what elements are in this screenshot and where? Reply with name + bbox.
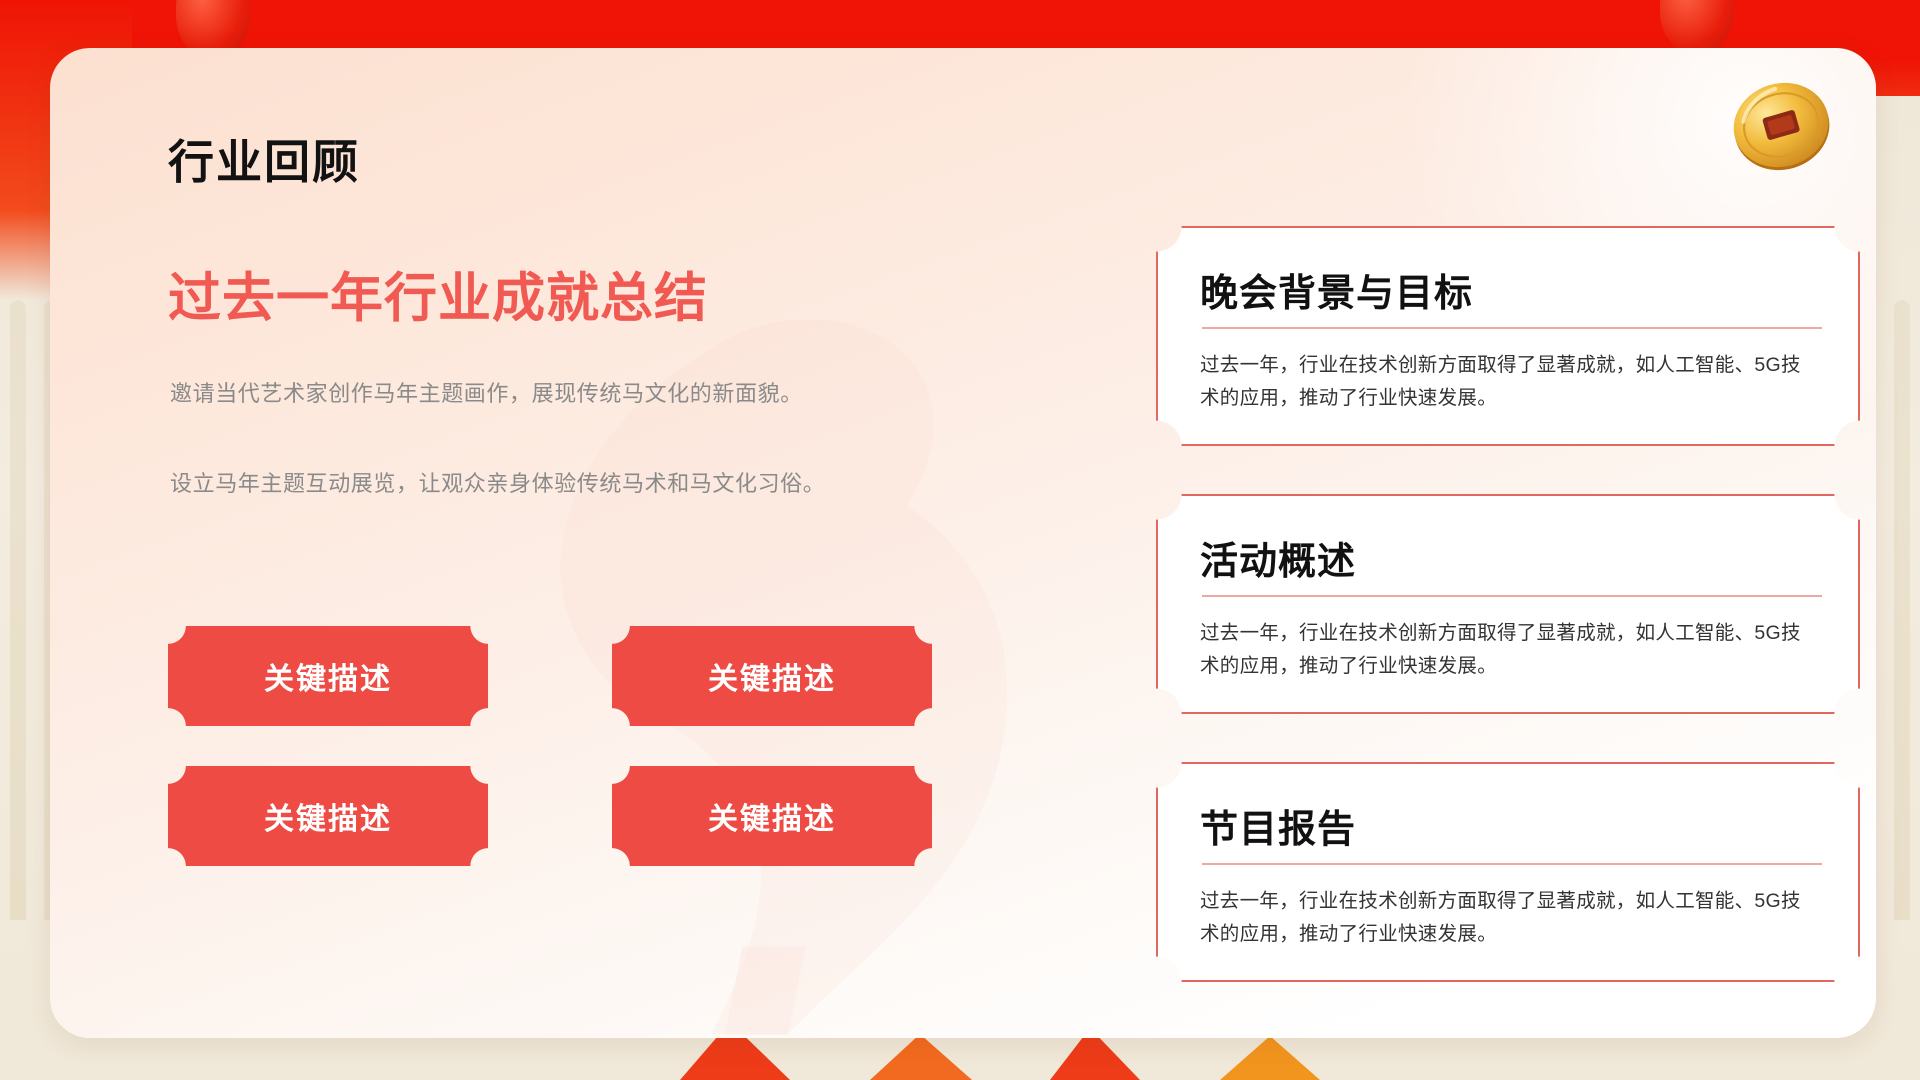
info-card-2-body: 过去一年，行业在技术创新方面取得了显著成就，如人工智能、5G技术的应用，推动了行… (1200, 617, 1820, 683)
info-card-3-title: 节目报告 (1200, 798, 1820, 863)
info-card-1-divider (1202, 327, 1822, 329)
info-card-2-divider (1202, 595, 1822, 597)
info-card-1-title: 晚会背景与目标 (1200, 262, 1820, 327)
key-description-button-1[interactable]: 关键描述 (168, 626, 488, 726)
key-description-button-3[interactable]: 关键描述 (168, 766, 488, 866)
info-card-3-divider (1202, 863, 1822, 865)
info-card-list: 晚会背景与目标 过去一年，行业在技术创新方面取得了显著成就，如人工智能、5G技术… (1156, 226, 1860, 1030)
key-description-button-group: 关键描述 关键描述 关键描述 关键描述 (168, 626, 938, 866)
info-card-2[interactable]: 活动概述 过去一年，行业在技术创新方面取得了显著成就，如人工智能、5G技术的应用… (1156, 494, 1860, 714)
info-card-3[interactable]: 节目报告 过去一年，行业在技术创新方面取得了显著成就，如人工智能、5G技术的应用… (1156, 762, 1860, 982)
info-card-1-body: 过去一年，行业在技术创新方面取得了显著成就，如人工智能、5G技术的应用，推动了行… (1200, 349, 1820, 415)
key-description-button-2[interactable]: 关键描述 (612, 626, 932, 726)
intro-paragraph-2: 设立马年主题互动展览，让观众亲身体验传统马术和马文化习俗。 (170, 466, 825, 501)
info-card-2-title: 活动概述 (1200, 530, 1820, 595)
content-panel: 行业回顾 过去一年行业成就总结 邀请当代艺术家创作马年主题画作，展现传统马文化的… (50, 48, 1876, 1038)
info-card-3-body: 过去一年，行业在技术创新方面取得了显著成就，如人工智能、5G技术的应用，推动了行… (1200, 885, 1820, 951)
page-title: 过去一年行业成就总结 (168, 256, 708, 332)
intro-paragraph-1: 邀请当代艺术家创作马年主题画作，展现传统马文化的新面貌。 (170, 376, 803, 411)
slide-root: 行业回顾 过去一年行业成就总结 邀请当代艺术家创作马年主题画作，展现传统马文化的… (0, 0, 1920, 1080)
info-card-1[interactable]: 晚会背景与目标 过去一年，行业在技术创新方面取得了显著成就，如人工智能、5G技术… (1156, 226, 1860, 446)
key-description-button-4[interactable]: 关键描述 (612, 766, 932, 866)
page-eyebrow-title: 行业回顾 (168, 126, 360, 192)
